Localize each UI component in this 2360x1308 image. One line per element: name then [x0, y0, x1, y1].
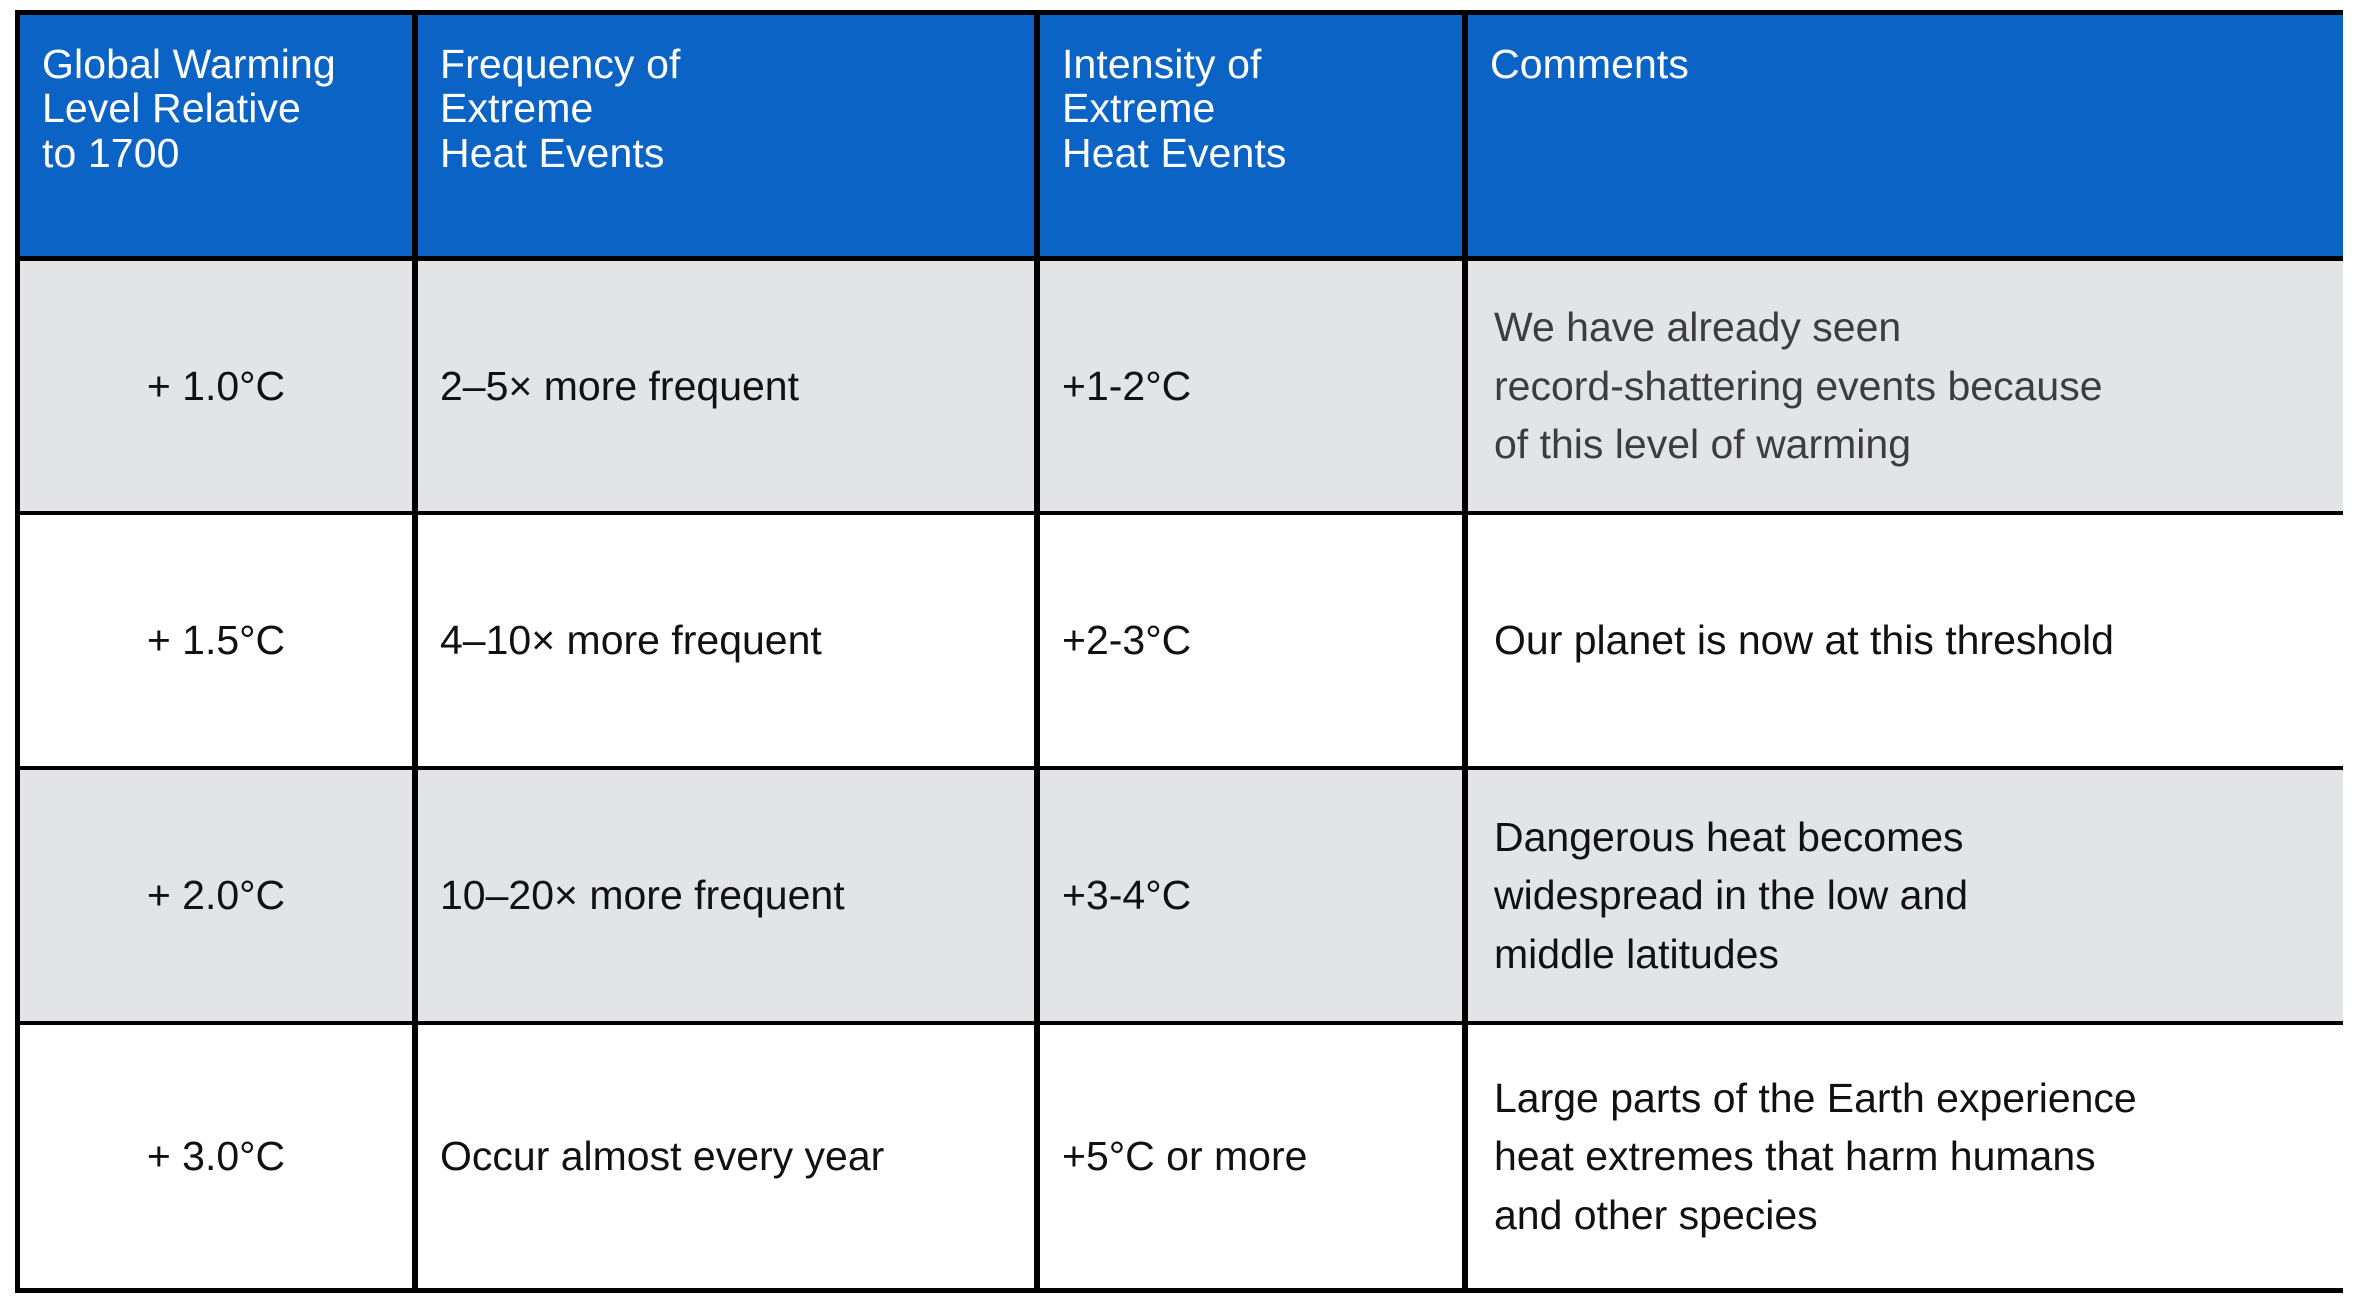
table-row: + 3.0°C Occur almost every year +5°C or … [20, 1023, 2343, 1288]
table-row: + 1.5°C 4–10× more frequent +2-3°C Our p… [20, 513, 2343, 768]
cell-intensity: +2-3°C [1037, 513, 1465, 768]
cell-warming-level: + 1.5°C [20, 513, 415, 768]
cell-comment: Dangerous heat becomes widespread in the… [1465, 768, 2343, 1023]
comment-line: Dangerous heat becomes [1494, 808, 2323, 866]
comment-line: We have already seen [1494, 298, 2323, 356]
table-body: + 1.0°C 2–5× more frequent +1-2°C We hav… [20, 258, 2343, 1288]
cell-frequency: Occur almost every year [415, 1023, 1037, 1288]
screenshot-root: Global Warming Level Relative to 1700 Fr… [0, 0, 2360, 1308]
table-row: + 1.0°C 2–5× more frequent +1-2°C We hav… [20, 258, 2343, 513]
column-header-frequency-extreme-heat: Frequency of Extreme Heat Events [415, 15, 1037, 258]
header-line: Heat Events [1062, 131, 1462, 175]
cell-intensity: +3-4°C [1037, 768, 1465, 1023]
table-header: Global Warming Level Relative to 1700 Fr… [20, 15, 2343, 258]
header-line: Level Relative [42, 86, 412, 130]
comment-line: widespread in the low and [1494, 866, 2323, 924]
cell-frequency: 10–20× more frequent [415, 768, 1037, 1023]
cell-warming-level: + 2.0°C [20, 768, 415, 1023]
column-header-comments: Comments [1465, 15, 2343, 258]
cell-frequency: 2–5× more frequent [415, 258, 1037, 513]
header-line: Extreme [1062, 86, 1462, 130]
comment-line: heat extremes that harm humans [1494, 1127, 2323, 1185]
table-row: + 2.0°C 10–20× more frequent +3-4°C Dang… [20, 768, 2343, 1023]
column-header-intensity-extreme-heat: Intensity of Extreme Heat Events [1037, 15, 1465, 258]
cell-comment: Our planet is now at this threshold [1465, 513, 2343, 768]
comment-line: and other species [1494, 1186, 2323, 1244]
header-line: Intensity of [1062, 42, 1462, 86]
header-line: Heat Events [440, 131, 1034, 175]
header-line: Frequency of [440, 42, 1034, 86]
comment-line: record-shattering events because [1494, 357, 2323, 415]
warming-levels-table-container: Global Warming Level Relative to 1700 Fr… [15, 10, 2343, 1293]
header-line: Extreme [440, 86, 1034, 130]
header-row: Global Warming Level Relative to 1700 Fr… [20, 15, 2343, 258]
cell-intensity: +5°C or more [1037, 1023, 1465, 1288]
header-line: to 1700 [42, 131, 412, 175]
cell-comment: We have already seen record-shattering e… [1465, 258, 2343, 513]
column-header-global-warming-level: Global Warming Level Relative to 1700 [20, 15, 415, 258]
comment-line: of this level of warming [1494, 415, 2323, 473]
warming-levels-table: Global Warming Level Relative to 1700 Fr… [20, 15, 2343, 1288]
comment-line: Our planet is now at this threshold [1494, 611, 2323, 669]
cell-intensity: +1-2°C [1037, 258, 1465, 513]
cell-frequency: 4–10× more frequent [415, 513, 1037, 768]
cell-warming-level: + 1.0°C [20, 258, 415, 513]
header-line: Comments [1490, 42, 2343, 86]
header-line: Global Warming [42, 42, 412, 86]
comment-line: Large parts of the Earth experience [1494, 1069, 2323, 1127]
cell-warming-level: + 3.0°C [20, 1023, 415, 1288]
cell-comment: Large parts of the Earth experience heat… [1465, 1023, 2343, 1288]
comment-line: middle latitudes [1494, 925, 2323, 983]
